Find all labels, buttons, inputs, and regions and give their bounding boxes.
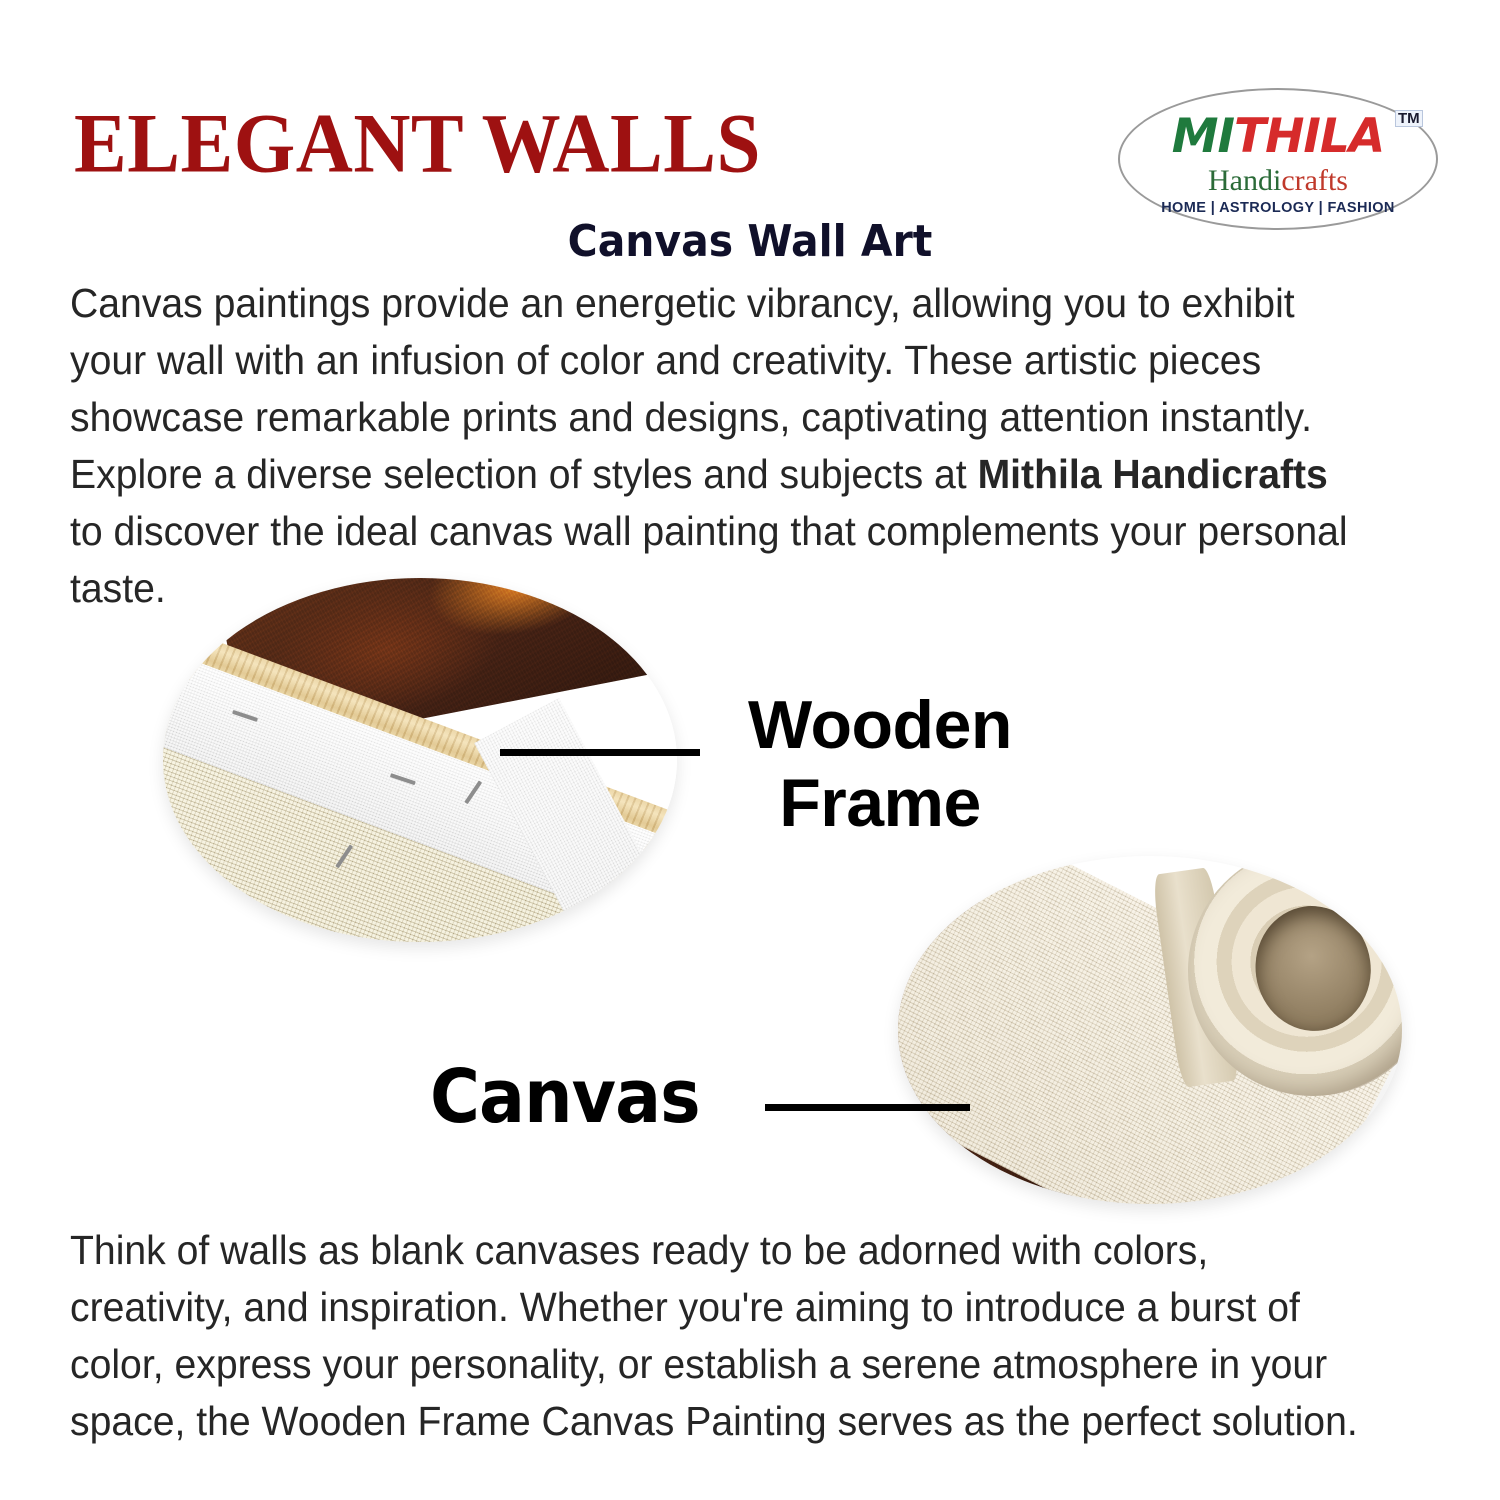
staple-icon (390, 773, 416, 785)
logo-wordmark: MITHILA (1118, 113, 1438, 160)
logo-subtitle: Handicrafts (1118, 166, 1438, 196)
section-heading: Canvas Wall Art (53, 216, 1448, 267)
logo-wordmark-part1: MI (1172, 109, 1234, 164)
logo-subtitle-part2: crafts (1281, 164, 1348, 197)
staple-icon (232, 710, 258, 722)
closing-paragraph: Think of walls as blank canvases ready t… (70, 1222, 1369, 1450)
wooden-frame-label-line1: Wooden (700, 686, 1060, 764)
canvas-leader-line (765, 1104, 970, 1111)
canvas-label: Canvas (430, 1060, 700, 1134)
canvas-roll-photo (898, 856, 1402, 1204)
intro-paragraph: Canvas paintings provide an energetic vi… (70, 275, 1369, 617)
logo-tagline: HOME | ASTROLOGY | FASHION (1118, 200, 1438, 216)
intro-brand-emphasis: Mithila Handicrafts (978, 451, 1328, 497)
mithila-handicrafts-logo: MITHILA TM Handicrafts HOME | ASTROLOGY … (1118, 88, 1438, 230)
logo-subtitle-part1: Handi (1208, 164, 1281, 197)
logo-wordmark-part2: THILA (1234, 109, 1384, 164)
wooden-frame-label-line2: Frame (700, 764, 1060, 842)
wooden-frame-photo (163, 578, 677, 942)
infographic-page: ELEGANT WALLS MITHILA TM Handicrafts HOM… (0, 0, 1500, 1500)
wooden-frame-leader-line (500, 749, 700, 756)
wooden-frame-label: Wooden Frame (700, 686, 1060, 842)
wooden-frame-photo-inner (163, 578, 677, 942)
trademark-icon: TM (1395, 110, 1423, 127)
brand-title: ELEGANT WALLS (74, 101, 761, 186)
